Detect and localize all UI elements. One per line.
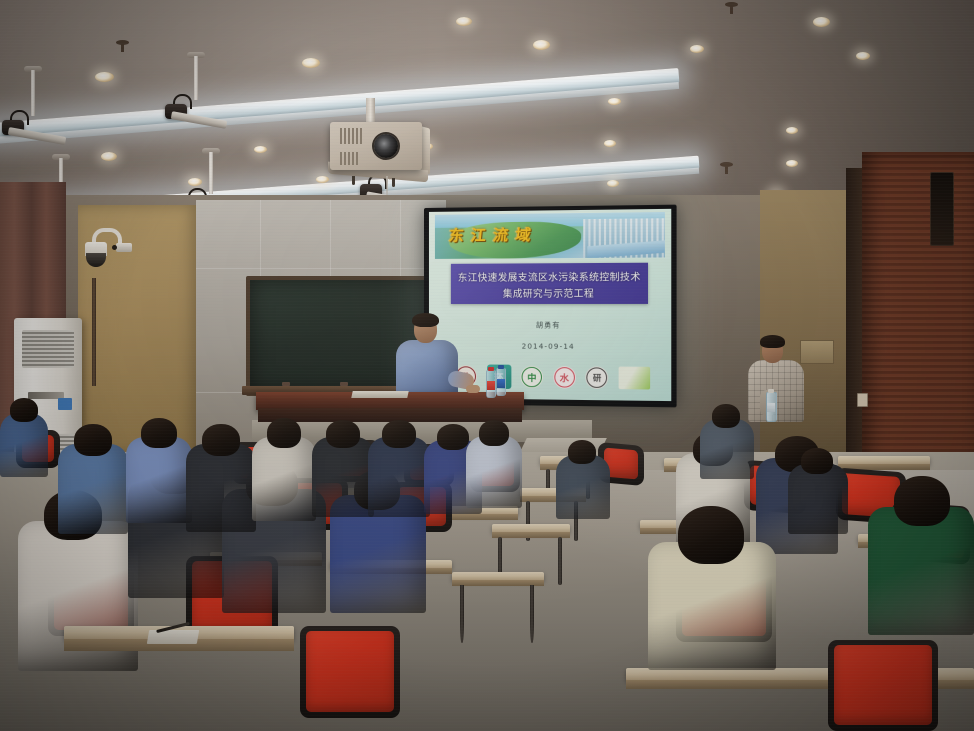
downlight (856, 52, 870, 60)
downlight (456, 17, 472, 26)
audience-member-torso (466, 436, 522, 508)
logo-gray-circle: 研 (586, 366, 609, 389)
logo-green-rect (619, 367, 651, 390)
audience-member-head (382, 420, 416, 448)
audience-member-head (10, 398, 38, 422)
presenter-torso (396, 340, 458, 398)
podium-front-panel (258, 408, 522, 422)
logo-glyph (619, 367, 651, 390)
projector-vent (340, 128, 342, 144)
chair[interactable] (828, 640, 938, 731)
logo-glyph: 中 (521, 366, 543, 389)
chair-backrest (306, 631, 394, 712)
audience-member-head (437, 424, 469, 450)
desk-leg (558, 537, 562, 585)
chair-backrest (834, 645, 932, 725)
downlight (607, 180, 619, 187)
blackboard-clip (340, 382, 348, 386)
logo-green-circle: 中 (521, 366, 543, 389)
light-switch-panel[interactable] (857, 393, 868, 407)
desk-leg (530, 585, 534, 643)
audience-member-torso (868, 507, 974, 635)
projector-foot (352, 176, 355, 185)
audience-member-torso (312, 437, 374, 517)
blackboard-panel-divider (92, 278, 96, 386)
audience-member-head (479, 420, 509, 446)
slide-date: 2014-09-14 (429, 342, 671, 351)
downlight (95, 72, 114, 82)
notebook (147, 630, 199, 644)
desk-leg (460, 585, 464, 643)
slide-banner-title: 东江流域 (448, 224, 539, 246)
bottle-label (487, 381, 495, 390)
audience-member-torso (700, 419, 754, 479)
chair[interactable] (300, 626, 400, 718)
projector-vent (352, 152, 354, 165)
downlight (690, 45, 704, 53)
audience-member-torso (788, 464, 848, 534)
pendant-pole (194, 56, 198, 100)
downlight (316, 176, 329, 183)
slide-banner-image: 东江流域 (435, 212, 665, 259)
water-bottle (766, 392, 777, 422)
downlight (786, 160, 798, 167)
projector-foot (392, 178, 395, 187)
audience-member-head (801, 448, 833, 474)
wood-slat-wall (862, 152, 974, 482)
audience-member-torso (368, 437, 430, 517)
water-bottle (486, 370, 496, 398)
audience-member-torso (0, 413, 48, 477)
audience-member-head (202, 424, 240, 456)
audience-member-torso (556, 455, 610, 519)
projector-vent (348, 128, 350, 144)
downlight (188, 178, 202, 186)
slide-title-line-2: 集成研究与示范工程 (451, 285, 648, 300)
bottle-cap (498, 365, 504, 369)
podium-papers (351, 391, 408, 398)
projector-vent (356, 152, 358, 165)
projector-vent (356, 128, 358, 144)
downlight (533, 40, 550, 50)
bottle-cap (488, 367, 494, 371)
slide-author: 胡勇有 (429, 320, 671, 331)
projector-vent (348, 152, 350, 165)
projector-vent (340, 152, 342, 165)
downlight (101, 152, 117, 161)
blackboard-clip (282, 382, 290, 386)
pendant-pole (209, 152, 213, 194)
presenter-hand (466, 385, 480, 393)
standing-attendee-hair (760, 335, 785, 348)
projector-vent (344, 128, 346, 144)
audience-member-head (712, 404, 740, 428)
downlight (604, 140, 616, 147)
air-conditioner-badge (58, 398, 72, 410)
audience-member-torso (186, 444, 256, 532)
downlight (786, 127, 798, 134)
bullet-security-camera (116, 243, 132, 252)
audience-member-head (326, 420, 360, 448)
bottle-cap (768, 389, 774, 393)
audience-member-torso (126, 437, 192, 523)
audience-member-head (894, 476, 950, 526)
bottle-label (497, 379, 505, 388)
logo-glyph: 水 (553, 366, 576, 389)
downlight (254, 146, 267, 153)
slide-title-box: 东江快速发展支流区水污染系统控制技术 集成研究与示范工程 (451, 263, 648, 304)
logo-red-circle: 水 (553, 366, 576, 389)
projector-vent (360, 128, 362, 144)
audience-member-head (141, 418, 177, 448)
lecture-hall-photo: 东江流域 东江快速发展支流区水污染系统控制技术 集成研究与示范工程 胡勇有 20… (0, 0, 974, 731)
projector-lens-icon (374, 134, 398, 158)
wall-notice-board (800, 340, 834, 364)
audience-member-head (568, 440, 596, 464)
audience-member-head (678, 506, 744, 564)
downlight (813, 17, 830, 27)
presenter-hair (412, 313, 439, 327)
tile-seam (196, 268, 446, 269)
wall-speaker-panel (930, 172, 954, 246)
audience-member-torso (58, 444, 128, 534)
water-bottle (496, 368, 506, 396)
audience-member-head (74, 424, 112, 456)
projector-vent (344, 152, 346, 165)
air-conditioner-vent (22, 330, 74, 368)
slide-title-line-1: 东江快速发展支流区水污染系统控制技术 (451, 269, 648, 284)
downlight (302, 58, 320, 68)
projector-vent (352, 128, 354, 144)
downlight (608, 98, 621, 105)
audience-member-torso (252, 437, 316, 521)
pendant-pole (31, 70, 35, 116)
bottle-label (767, 403, 775, 412)
logo-glyph: 研 (586, 366, 609, 389)
slide-logo-row: 业 环 中 水 研 (455, 362, 650, 392)
projector-mount-pole (366, 98, 375, 124)
audience-member-head (267, 418, 301, 448)
